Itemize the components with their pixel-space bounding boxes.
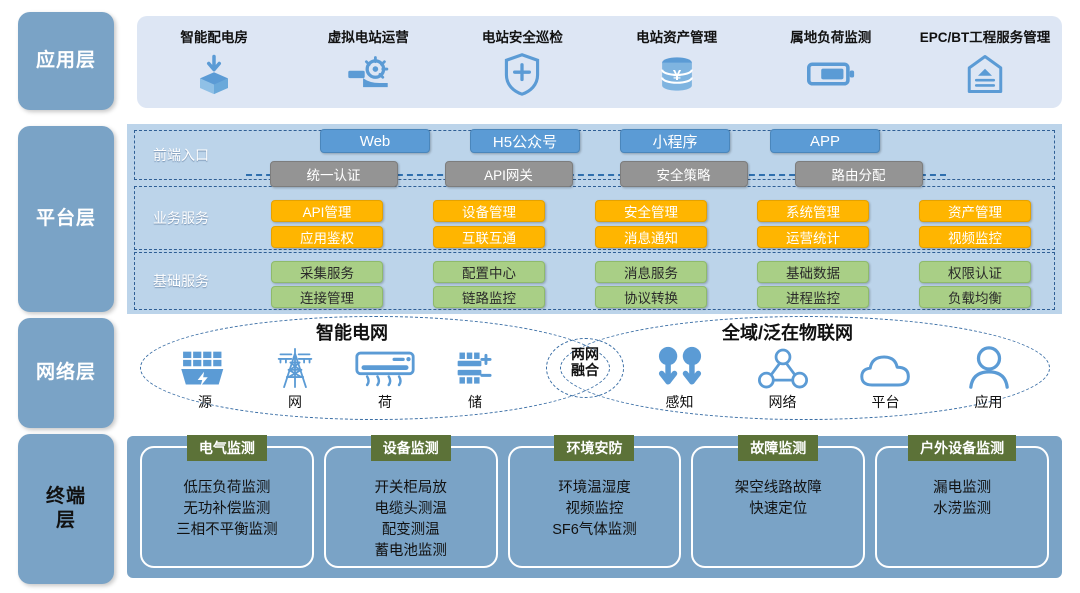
terminal-cards: 电气监测 低压负荷监测 无功补偿监测 三相不平衡监测 设备监测 开关柜局放 电缆… [127, 436, 1062, 578]
basic-message-service[interactable]: 消息服务 [595, 261, 707, 283]
power-tower-icon [275, 340, 315, 390]
battery-icon [807, 52, 855, 96]
gateway-api-gateway[interactable]: API网关 [445, 161, 573, 187]
basic-protocol-conversion[interactable]: 协议转换 [595, 286, 707, 308]
app-item-local-load-monitoring[interactable]: 属地负荷监测 [754, 16, 908, 96]
basic-base-data[interactable]: 基础数据 [757, 261, 869, 283]
network-item-source[interactable]: 源 [160, 340, 250, 420]
business-interconnection[interactable]: 互联互通 [433, 226, 545, 248]
network-items-iot: 感知 网络 平台 [628, 340, 1040, 420]
terminal-card-body: 漏电监测 水涝监测 [877, 478, 1047, 520]
network-item-storage[interactable]: 储 [430, 340, 520, 420]
air-conditioner-icon [354, 340, 416, 390]
database-yen-icon: ¥ [655, 52, 699, 96]
app-item-label: 电站资产管理 [636, 26, 717, 46]
list-item: 开关柜局放 [326, 478, 496, 499]
application-items: 智能配电房 虚拟电站运营 [137, 16, 1062, 108]
box-download-icon [193, 52, 235, 96]
list-item: 蓄电池监测 [326, 541, 496, 562]
gateway-row: 统一认证 API网关 安全策略 路由分配 [246, 161, 946, 187]
terminal-card-body: 环境温湿度 视频监控 SF6气体监测 [510, 478, 680, 541]
business-system-management[interactable]: 系统管理 [757, 200, 869, 222]
app-item-smart-distribution-room[interactable]: 智能配电房 [137, 16, 291, 96]
list-item: 快速定位 [693, 499, 863, 520]
convergence-line-1: 两网 [546, 346, 624, 362]
terminal-card-device-monitoring[interactable]: 设备监测 开关柜局放 电缆头测温 配变测温 蓄电池监测 [324, 446, 498, 568]
list-item: 电缆头测温 [326, 499, 496, 520]
terminal-card-title: 电气监测 [187, 435, 267, 461]
gateway-route-dispatch[interactable]: 路由分配 [795, 161, 923, 187]
hand-gear-icon [345, 52, 391, 96]
frontend-entry-h5[interactable]: H5公众号 [470, 129, 580, 153]
list-item: 低压负荷监测 [142, 478, 312, 499]
network-item-grid[interactable]: 网 [250, 340, 340, 420]
business-security-management[interactable]: 安全管理 [595, 200, 707, 222]
layer-chip-platform: 平台层 [18, 126, 114, 312]
basic-row-1: 采集服务 配置中心 消息服务 基础数据 权限认证 [246, 261, 1056, 283]
app-item-virtual-plant-operation[interactable]: 虚拟电站运营 [291, 16, 445, 96]
layer-label-platform: 平台层 [36, 207, 96, 231]
user-icon [967, 340, 1011, 390]
gateway-unified-auth[interactable]: 统一认证 [270, 161, 398, 187]
terminal-card-title: 设备监测 [371, 435, 451, 461]
list-item: 无功补偿监测 [142, 499, 312, 520]
terminal-card-outdoor-device-monitoring[interactable]: 户外设备监测 漏电监测 水涝监测 [875, 446, 1049, 568]
business-asset-management[interactable]: 资产管理 [919, 200, 1031, 222]
basic-process-monitoring[interactable]: 进程监控 [757, 286, 869, 308]
battery-storage-icon [454, 340, 496, 390]
terminal-card-title: 故障监测 [738, 435, 818, 461]
frontend-entry-app[interactable]: APP [770, 129, 880, 153]
frontend-entry-row: Web H5公众号 小程序 APP [300, 129, 900, 153]
app-item-label: 智能配电房 [180, 26, 248, 46]
list-item: 漏电监测 [877, 478, 1047, 499]
terminal-card-electrical-monitoring[interactable]: 电气监测 低压负荷监测 无功补偿监测 三相不平衡监测 [140, 446, 314, 568]
business-api-management[interactable]: API管理 [271, 200, 383, 222]
network-item-label: 源 [198, 392, 212, 412]
business-operation-stats[interactable]: 运营统计 [757, 226, 869, 248]
list-item: SF6气体监测 [510, 520, 680, 541]
list-item: 水涝监测 [877, 499, 1047, 520]
network-item-load[interactable]: 荷 [340, 340, 430, 420]
network-item-label: 储 [468, 392, 482, 412]
gateway-security-policy[interactable]: 安全策略 [620, 161, 748, 187]
svg-text:¥: ¥ [672, 68, 681, 84]
terminal-card-title: 户外设备监测 [908, 435, 1016, 461]
network-item-label: 荷 [378, 392, 392, 412]
basic-permission-auth[interactable]: 权限认证 [919, 261, 1031, 283]
warehouse-icon [965, 52, 1005, 96]
network-item-platform[interactable]: 平台 [834, 340, 937, 420]
list-item: 配变测温 [326, 520, 496, 541]
business-app-authorization[interactable]: 应用鉴权 [271, 226, 383, 248]
layer-chip-terminal: 终端层 [18, 434, 114, 584]
terminal-card-title: 环境安防 [554, 435, 634, 461]
business-label: 业务服务 [153, 208, 209, 228]
basic-load-balancing[interactable]: 负载均衡 [919, 286, 1031, 308]
frontend-label: 前端入口 [153, 145, 209, 165]
network-item-label: 网络 [769, 392, 797, 412]
terminal-card-body: 低压负荷监测 无功补偿监测 三相不平衡监测 [142, 478, 312, 541]
layer-label-terminal: 终端层 [45, 485, 87, 533]
app-item-label: EPC/BT工程服务管理 [920, 26, 1051, 46]
app-item-label: 属地负荷监测 [790, 26, 871, 46]
list-item: 环境温湿度 [510, 478, 680, 499]
architecture-diagram: 应用层 平台层 网络层 终端层 智能配电房 虚拟电站运营 [0, 0, 1080, 593]
layer-chip-application: 应用层 [18, 12, 114, 110]
list-item: 视频监控 [510, 499, 680, 520]
network-item-application[interactable]: 应用 [937, 340, 1040, 420]
layer-label-application: 应用层 [36, 49, 96, 73]
business-device-management[interactable]: 设备管理 [433, 200, 545, 222]
frontend-entry-miniapp[interactable]: 小程序 [620, 129, 730, 153]
terminal-card-fault-monitoring[interactable]: 故障监测 架空线路故障 快速定位 [691, 446, 865, 568]
network-item-label: 感知 [666, 392, 694, 412]
network-item-label: 网 [288, 392, 302, 412]
app-item-station-asset-management[interactable]: 电站资产管理 ¥ [600, 16, 754, 96]
app-item-station-safety-inspection[interactable]: 电站安全巡检 [445, 16, 599, 96]
app-item-label: 电站安全巡检 [482, 26, 563, 46]
sensor-arrows-icon [654, 340, 706, 390]
app-item-epc-bt-engineering-service[interactable]: EPC/BT工程服务管理 [908, 16, 1062, 96]
network-convergence-label: 两网 融合 [546, 346, 624, 378]
network-item-network[interactable]: 网络 [731, 340, 834, 420]
terminal-card-environment-security[interactable]: 环境安防 环境温湿度 视频监控 SF6气体监测 [508, 446, 682, 568]
list-item: 架空线路故障 [693, 478, 863, 499]
convergence-line-2: 融合 [546, 362, 624, 378]
business-message-notify[interactable]: 消息通知 [595, 226, 707, 248]
business-row-2: 应用鉴权 互联互通 消息通知 运营统计 视频监控 [246, 226, 1056, 248]
basic-connection-management[interactable]: 连接管理 [271, 286, 383, 308]
layer-label-network: 网络层 [36, 361, 96, 385]
basic-config-center[interactable]: 配置中心 [433, 261, 545, 283]
business-row-1: API管理 设备管理 安全管理 系统管理 资产管理 [246, 200, 1056, 222]
network-items-smart-grid: 源 网 [160, 340, 520, 420]
terminal-card-body: 开关柜局放 电缆头测温 配变测温 蓄电池监测 [326, 478, 496, 562]
list-item: 三相不平衡监测 [142, 520, 312, 541]
cloud-icon [859, 340, 913, 390]
network-item-label: 平台 [872, 392, 900, 412]
basic-label: 基础服务 [153, 271, 209, 291]
app-item-label: 虚拟电站运营 [328, 26, 409, 46]
layer-chip-network: 网络层 [18, 318, 114, 428]
network-nodes-icon [758, 340, 808, 390]
basic-link-monitoring[interactable]: 链路监控 [433, 286, 545, 308]
terminal-card-body: 架空线路故障 快速定位 [693, 478, 863, 520]
basic-collection-service[interactable]: 采集服务 [271, 261, 383, 283]
frontend-entry-web[interactable]: Web [320, 129, 430, 153]
solar-panel-icon [179, 340, 231, 390]
network-item-perception[interactable]: 感知 [628, 340, 731, 420]
basic-row-2: 连接管理 链路监控 协议转换 进程监控 负载均衡 [246, 286, 1056, 308]
shield-plus-icon [503, 52, 541, 96]
network-item-label: 应用 [975, 392, 1003, 412]
business-video-surveillance[interactable]: 视频监控 [919, 226, 1031, 248]
